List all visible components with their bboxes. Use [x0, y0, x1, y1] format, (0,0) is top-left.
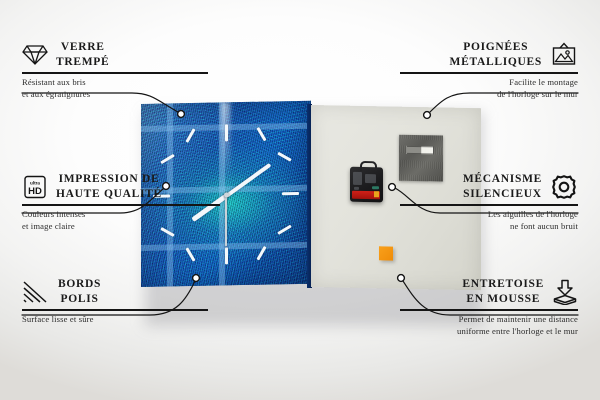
callout-rule — [400, 309, 578, 310]
foam-spacer — [379, 246, 393, 260]
callout-sub-line2: et aux égratignures — [22, 88, 208, 100]
callout-title-line1: VERRE — [56, 40, 109, 55]
arrow-down-pad-icon — [552, 279, 578, 305]
hour-tick-3 — [282, 191, 299, 194]
callout-rule — [400, 72, 578, 73]
hour-tick-12 — [225, 124, 228, 141]
hanger-slot — [406, 146, 434, 155]
callout-rule — [22, 72, 208, 73]
callout-polished-edges: BORDS POLIS Surface lisse et sûre — [22, 277, 208, 325]
mechanism-detail — [365, 174, 376, 183]
callout-title-line2: SILENCIEUX — [463, 187, 542, 202]
callout-title: VERRE TREMPÉ — [56, 40, 109, 69]
callout-title-line2: HAUTE QUALITÉ — [56, 187, 162, 202]
diamond-icon — [22, 44, 48, 66]
second-hand — [225, 194, 227, 246]
callout-subtitle: Permet de maintenir une distance uniform… — [400, 313, 578, 337]
callout-sub-line1: Couleurs intenses — [22, 208, 220, 220]
callout-sub-line2: uniforme entre l'horloge et le mur — [400, 325, 578, 337]
mechanism-detail — [372, 186, 379, 189]
callout-title: POIGNÉES MÉTALLIQUES — [450, 40, 542, 69]
hanging-frame-icon — [550, 42, 578, 68]
callout-title-line2: MÉTALLIQUES — [450, 55, 542, 70]
callout-header: BORDS POLIS — [22, 277, 208, 306]
callout-title-line1: BORDS — [58, 277, 101, 292]
callout-subtitle: Surface lisse et sûre — [22, 313, 208, 325]
callout-title: ENTRETOISE EN MOUSSE — [462, 277, 544, 306]
callout-sub-line2: ne font aucun bruit — [400, 220, 578, 232]
mechanism-detail — [353, 172, 362, 185]
callout-silent-mechanism: MÉCANISME SILENCIEUX Les aiguilles de l'… — [400, 172, 578, 233]
callout-title: BORDS POLIS — [58, 277, 101, 306]
infographic-canvas: VERRE TREMPÉ Résistant aux bris et aux é… — [0, 0, 600, 400]
callout-title-line2: EN MOUSSE — [462, 292, 544, 307]
mechanism-hanger-loop — [360, 161, 377, 171]
callout-rule — [22, 309, 208, 310]
silent-clock-mechanism — [350, 167, 383, 203]
callout-header: ultra HD IMPRESSION DE HAUTE QUALITÉ — [22, 172, 220, 201]
callout-tempered-glass: VERRE TREMPÉ Résistant aux bris et aux é… — [22, 40, 208, 101]
callout-subtitle: Les aiguilles de l'horloge ne font aucun… — [400, 208, 578, 232]
battery-plus-terminal — [374, 191, 379, 197]
callout-metal-handles: POIGNÉES MÉTALLIQUES Facilite le montage… — [400, 40, 578, 101]
callout-header: VERRE TREMPÉ — [22, 40, 208, 69]
callout-sub-line2: et image claire — [22, 220, 220, 232]
callout-title-line1: MÉCANISME — [463, 172, 542, 187]
callout-title: MÉCANISME SILENCIEUX — [463, 172, 542, 201]
hour-tick-6 — [225, 247, 228, 264]
callout-rule — [22, 204, 220, 205]
callout-header: MÉCANISME SILENCIEUX — [400, 172, 578, 201]
callout-hd-print: ultra HD IMPRESSION DE HAUTE QUALITÉ Cou… — [22, 172, 220, 233]
mechanism-battery — [352, 191, 380, 200]
callout-subtitle: Couleurs intenses et image claire — [22, 208, 220, 232]
callout-header: POIGNÉES MÉTALLIQUES — [400, 40, 578, 69]
callout-sub-line1: Facilite le montage — [400, 76, 578, 88]
callout-title: IMPRESSION DE HAUTE QUALITÉ — [56, 172, 162, 201]
callout-rule — [400, 204, 578, 205]
callout-sub-line1: Les aiguilles de l'horloge — [400, 208, 578, 220]
callout-title-line1: ENTRETOISE — [462, 277, 544, 292]
callout-sub-line1: Permet de maintenir une distance — [400, 313, 578, 325]
callout-subtitle: Facilite le montage de l'horloge sur le … — [400, 76, 578, 100]
mechanism-detail — [354, 187, 359, 190]
callout-sub-line1: Surface lisse et sûre — [22, 313, 208, 325]
callout-foam-spacer: ENTRETOISE EN MOUSSE Permet de maintenir… — [400, 277, 578, 338]
callout-header: ENTRETOISE EN MOUSSE — [400, 277, 578, 306]
ultra-hd-icon-large-text: HD — [28, 186, 42, 197]
polished-edges-icon — [22, 280, 50, 304]
callout-title-line1: IMPRESSION DE — [56, 172, 162, 187]
callout-sub-line2: de l'horloge sur le mur — [400, 88, 578, 100]
callout-title-line1: POIGNÉES — [450, 40, 542, 55]
callout-sub-line1: Résistant aux bris — [22, 76, 208, 88]
gear-icon — [550, 173, 578, 201]
ultra-hd-icon: ultra HD — [22, 175, 48, 199]
callout-title-line2: POLIS — [58, 292, 101, 307]
hands-center-cap — [224, 192, 229, 197]
callout-title-line2: TREMPÉ — [56, 55, 109, 70]
callout-subtitle: Résistant aux bris et aux égratignures — [22, 76, 208, 100]
ultra-hd-icon-small-text: ultra — [30, 180, 40, 185]
